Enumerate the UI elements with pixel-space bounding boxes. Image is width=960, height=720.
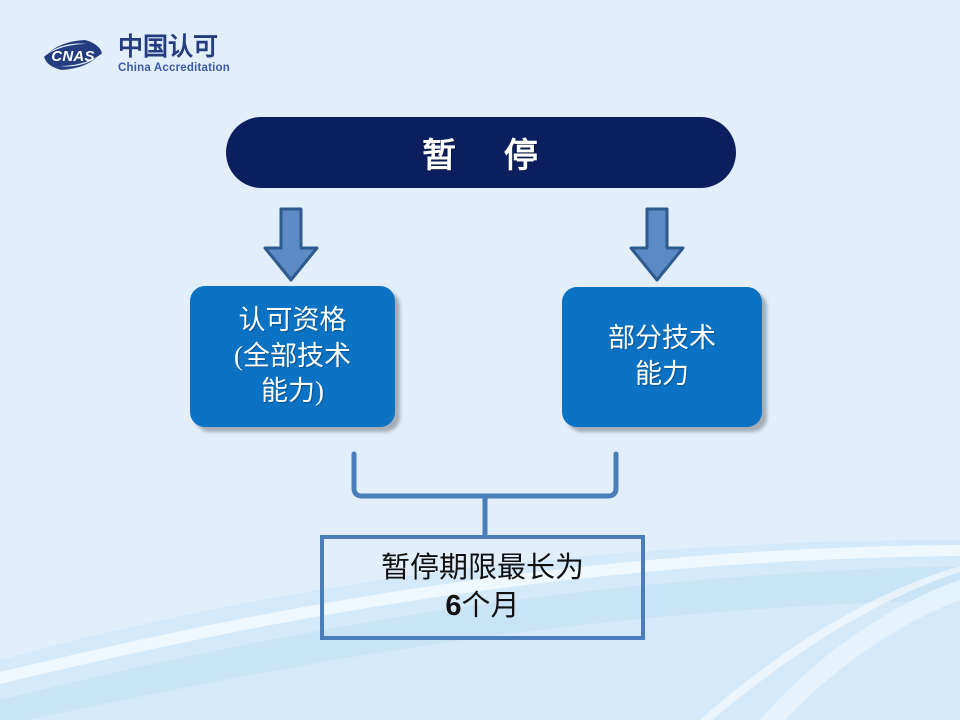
note-unit: 个月: [462, 590, 520, 622]
down-arrow-icon: [262, 206, 320, 284]
note-line-1: 暂停期限最长为: [381, 552, 584, 584]
box-label: 部分技术 能力: [608, 321, 716, 392]
note-text: 暂停期限最长为6个月: [381, 550, 584, 625]
note-box-suspension-period: 暂停期限最长为6个月: [320, 535, 645, 640]
box-label: 认可资格 (全部技术 能力): [234, 303, 351, 410]
box-full-technical-scope: 认可资格 (全部技术 能力): [190, 286, 395, 427]
cnas-logo: CNAS 中国认可 China Accreditation: [36, 28, 266, 82]
cnas-logo-icon: CNAS: [36, 34, 110, 76]
logo-name-en: China Accreditation: [118, 63, 230, 75]
cnas-logo-text: 中国认可 China Accreditation: [118, 35, 230, 75]
note-number: 6: [445, 590, 461, 622]
box-partial-technical-scope: 部分技术 能力: [562, 287, 762, 427]
title-banner: 暂 停: [226, 117, 736, 188]
bracket-connector: [340, 450, 630, 540]
page-title: 暂 停: [422, 128, 540, 177]
svg-text:CNAS: CNAS: [51, 48, 95, 65]
slide-canvas: CNAS 中国认可 China Accreditation 暂 停 认可资格 (…: [0, 0, 960, 720]
logo-name-cn: 中国认可: [118, 35, 230, 60]
down-arrow-icon: [628, 206, 686, 284]
